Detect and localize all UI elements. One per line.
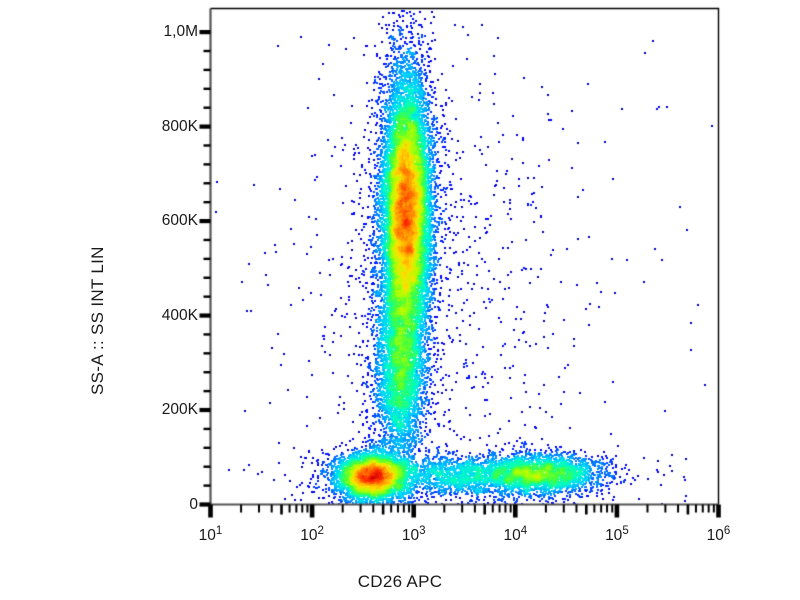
x-tick-base: 10: [503, 527, 520, 544]
x-tick-label: 101: [199, 527, 223, 545]
y-tick-label: 0: [100, 496, 198, 514]
x-tick-base: 10: [199, 527, 216, 544]
x-tick-exponent: 4: [521, 524, 527, 536]
x-tick-base: 10: [300, 527, 317, 544]
x-tick-base: 10: [402, 527, 419, 544]
x-tick-label: 102: [300, 527, 324, 545]
flow-cytometry-figure: SS-A :: SS INT LIN CD26 APC 0200K400K600…: [0, 0, 800, 600]
x-tick-exponent: 3: [419, 524, 425, 536]
y-tick-label: 600K: [100, 212, 198, 230]
x-tick-label: 106: [707, 527, 731, 545]
y-tick-label: 1,0M: [100, 23, 198, 41]
y-tick-label: 800K: [100, 118, 198, 136]
x-tick-base: 10: [707, 527, 724, 544]
y-tick-label: 400K: [100, 307, 198, 325]
x-axis-title: CD26 APC: [0, 572, 800, 592]
x-tick-base: 10: [605, 527, 622, 544]
x-tick-exponent: 2: [318, 524, 324, 536]
x-tick-label: 105: [605, 527, 629, 545]
x-tick-exponent: 6: [724, 524, 730, 536]
x-tick-label: 104: [503, 527, 527, 545]
x-tick-exponent: 1: [216, 524, 222, 536]
x-tick-exponent: 5: [622, 524, 628, 536]
y-tick-label: 200K: [100, 401, 198, 419]
x-tick-label: 103: [402, 527, 426, 545]
